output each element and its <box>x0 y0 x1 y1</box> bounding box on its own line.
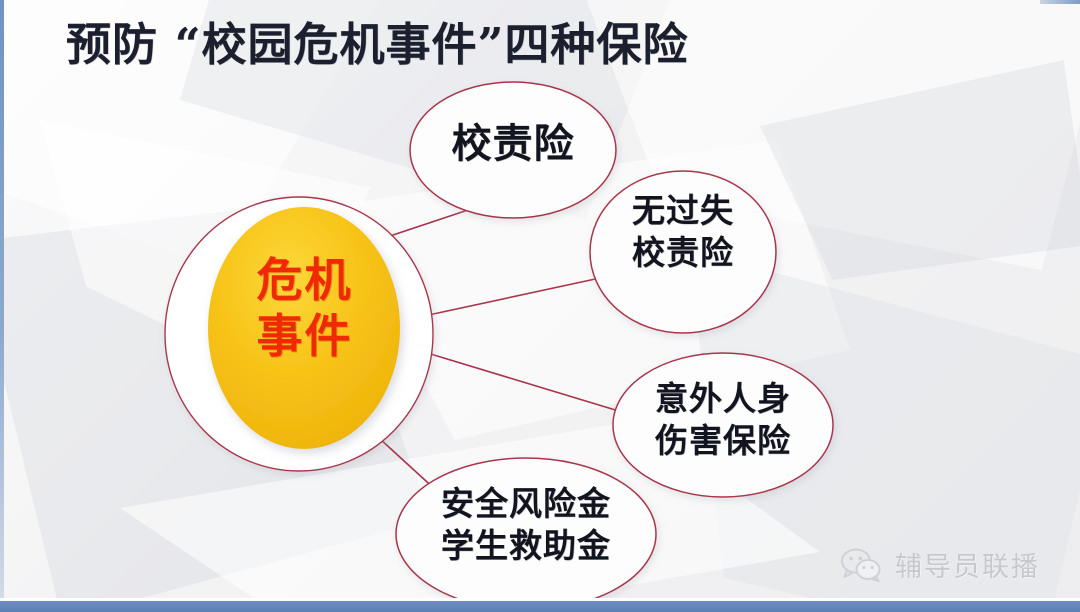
center-node-crisis-event[interactable] <box>165 197 433 471</box>
connector-line-to-node-3 <box>424 352 622 412</box>
outer-node-ellipses <box>396 82 833 610</box>
node-ellipse-anquan-fengxian[interactable] <box>396 458 656 610</box>
slide-canvas: 预防 “校园危机事件”四种保险 <box>0 0 1080 612</box>
node-ellipse-xiaozexian[interactable] <box>410 82 616 218</box>
watermark-text: 辅导员联播 <box>895 545 1040 584</box>
insurance-relationship-diagram <box>0 0 1080 612</box>
center-node-fill <box>208 207 400 449</box>
connector-line-to-node-2 <box>424 278 600 316</box>
node-ellipse-yiwai-renshen[interactable] <box>613 353 833 497</box>
node-ellipse-wuguoshi[interactable] <box>590 171 776 333</box>
watermark: 辅导员联播 <box>840 545 1040 584</box>
wechat-icon <box>840 548 884 582</box>
bottom-border-accent <box>0 601 1080 612</box>
